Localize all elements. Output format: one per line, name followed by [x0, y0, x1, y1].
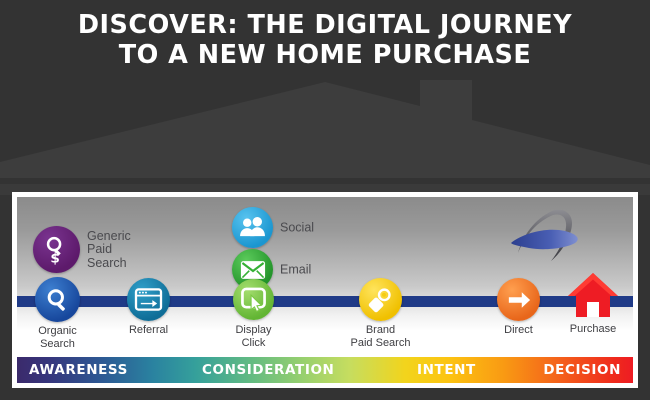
funnel-stage-intent: INTENT — [417, 362, 476, 378]
journey-line — [17, 296, 633, 307]
node-referral[interactable]: Referral — [127, 278, 170, 321]
magnifier-dollar-icon: $ — [33, 226, 80, 273]
node-label-brand-paid-search: Brand Paid Search — [326, 324, 436, 349]
node-label-generic-paid-search: Generic Paid Search — [87, 229, 131, 270]
page-title: DISCOVER: THE DIGITAL JOURNEY TO A NEW H… — [0, 10, 650, 70]
node-label-referral: Referral — [94, 324, 204, 337]
title-line-2: TO A NEW HOME PURCHASE — [0, 40, 650, 70]
node-brand-paid-search[interactable]: Brand Paid Search — [359, 278, 402, 321]
arrow-right-icon — [497, 278, 540, 321]
screen-cursor-icon — [233, 279, 274, 320]
node-label-email: Email — [280, 263, 311, 277]
journey-panel: $ Generic Paid Search Organic Search — [12, 192, 638, 388]
node-direct[interactable]: Direct — [497, 278, 540, 321]
browser-arrow-icon — [127, 278, 170, 321]
funnel-stage-decision: DECISION — [543, 362, 621, 378]
funnel-stage-awareness: AWARENESS — [29, 362, 128, 378]
funnel-stage-bar: AWARENESS CONSIDERATION INTENT DECISION — [17, 357, 633, 383]
magnifier-tag-icon — [359, 278, 402, 321]
node-generic-paid-search[interactable]: $ Generic Paid Search — [33, 226, 80, 273]
node-label-social: Social — [280, 221, 314, 235]
title-line-1: DISCOVER: THE DIGITAL JOURNEY — [78, 10, 572, 40]
node-purchase[interactable]: Purchase — [567, 270, 619, 327]
node-social[interactable]: Social — [232, 207, 273, 248]
house-icon — [567, 270, 619, 322]
node-label-purchase: Purchase — [538, 323, 633, 336]
funnel-stage-consideration: CONSIDERATION — [202, 362, 334, 378]
node-display-click[interactable]: Display Click — [233, 279, 274, 320]
brand-swoosh-logo — [505, 205, 585, 267]
house-silhouette-background — [0, 80, 650, 195]
svg-text:$: $ — [50, 251, 59, 265]
infographic-canvas: DISCOVER: THE DIGITAL JOURNEY TO A NEW H… — [0, 0, 650, 400]
people-icon — [232, 207, 273, 248]
journey-panel-inner: $ Generic Paid Search Organic Search — [17, 197, 633, 383]
magnifier-icon — [35, 277, 80, 322]
node-organic-search[interactable]: Organic Search — [35, 277, 80, 322]
node-label-display-click: Display Click — [199, 324, 309, 349]
